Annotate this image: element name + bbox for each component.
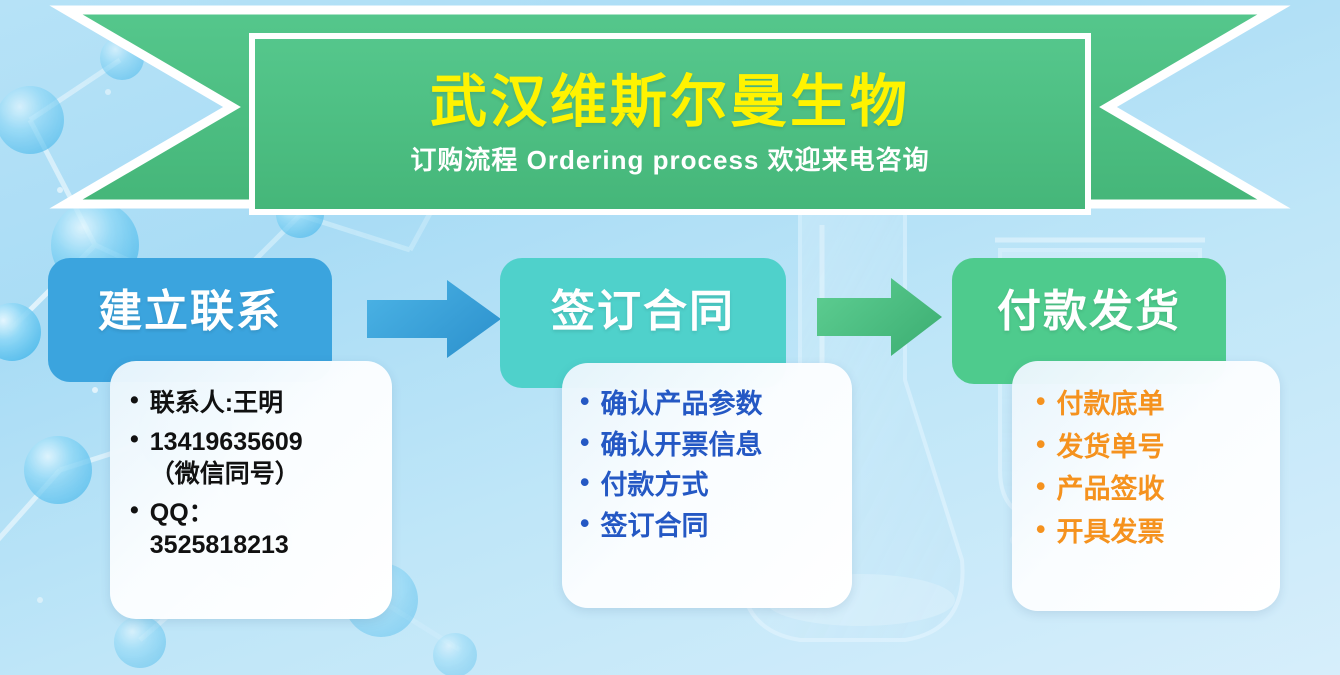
step-card-sign-contract: 签订合同 • 确认产品参数 • 确认开票信息 • 付款方式 • 签订合同 (500, 258, 856, 618)
bullet-icon: • (1036, 387, 1045, 415)
bullet-icon: • (580, 468, 589, 496)
step-3-heading: 付款发货 (997, 290, 1181, 334)
bullet-icon: • (1036, 430, 1045, 458)
bullet-icon: • (130, 426, 139, 452)
step-1-item-2: QQ： 3525818213 (150, 497, 378, 561)
step-2-panel: • 确认产品参数 • 确认开票信息 • 付款方式 • 签订合同 (562, 363, 852, 608)
bullet-icon: • (580, 509, 589, 537)
step-1-bullet-list: • 联系人:王明 • 13419635609 （微信同号） • QQ： 3525… (130, 387, 378, 561)
list-item: • 付款底单 (1036, 387, 1268, 422)
bullet-icon: • (130, 387, 139, 413)
step-3-panel: • 付款底单 • 发货单号 • 产品签收 • 开具发票 (1012, 361, 1280, 611)
step-2-item-3: 签订合同 (600, 509, 840, 544)
step-2-item-0: 确认产品参数 (600, 387, 840, 422)
bullet-icon: • (130, 497, 139, 523)
ribbon-text-block: 武汉维斯尔曼生物 订购流程 Ordering process 欢迎来电咨询 (255, 38, 1085, 210)
list-item: • 联系人:王明 (130, 387, 378, 419)
step-1-panel: • 联系人:王明 • 13419635609 （微信同号） • QQ： 3525… (110, 361, 392, 619)
bullet-icon: • (580, 428, 589, 456)
title-ribbon: 武汉维斯尔曼生物 订购流程 Ordering process 欢迎来电咨询 (0, 0, 1340, 232)
list-item: • 付款方式 (580, 468, 840, 503)
list-item: • 产品签收 (1036, 472, 1268, 507)
arrow-step2-to-step3 (815, 276, 945, 363)
step-card-payment-shipping: 付款发货 • 付款底单 • 发货单号 • 产品签收 • 开具发票 (952, 258, 1292, 618)
step-3-item-3: 开具发票 (1056, 515, 1268, 550)
step-card-establish-contact: 建立联系 • 联系人:王明 • 13419635609 （微信同号） • QQ：… (48, 258, 398, 623)
arrow-step1-to-step2 (365, 278, 505, 365)
list-item: • 开具发票 (1036, 515, 1268, 550)
right-arrow-icon (365, 278, 505, 360)
process-subtitle: 订购流程 Ordering process 欢迎来电咨询 (410, 145, 929, 176)
bullet-icon: • (1036, 472, 1045, 500)
step-2-item-2: 付款方式 (600, 468, 840, 503)
infographic-canvas: 武汉维斯尔曼生物 订购流程 Ordering process 欢迎来电咨询 建立… (0, 0, 1340, 675)
step-3-item-2: 产品签收 (1056, 472, 1268, 507)
step-3-bullet-list: • 付款底单 • 发货单号 • 产品签收 • 开具发票 (1036, 387, 1268, 549)
step-2-bullet-list: • 确认产品参数 • 确认开票信息 • 付款方式 • 签订合同 (580, 387, 840, 543)
bullet-icon: • (580, 387, 589, 415)
list-item: • 确认开票信息 (580, 428, 840, 463)
list-item: • QQ： 3525818213 (130, 497, 378, 561)
list-item: • 发货单号 (1036, 430, 1268, 465)
bullet-icon: • (1036, 515, 1045, 543)
list-item: • 13419635609 （微信同号） (130, 426, 378, 490)
step-2-heading: 签订合同 (551, 290, 735, 334)
step-1-item-1: 13419635609 （微信同号） (150, 426, 378, 490)
step-3-item-0: 付款底单 (1056, 387, 1268, 422)
right-arrow-icon (815, 276, 945, 358)
step-2-item-1: 确认开票信息 (600, 428, 840, 463)
list-item: • 确认产品参数 (580, 387, 840, 422)
step-3-item-1: 发货单号 (1056, 430, 1268, 465)
step-1-heading: 建立联系 (98, 290, 282, 334)
company-title: 武汉维斯尔曼生物 (430, 71, 910, 135)
step-1-item-0: 联系人:王明 (150, 387, 378, 419)
list-item: • 签订合同 (580, 509, 840, 544)
